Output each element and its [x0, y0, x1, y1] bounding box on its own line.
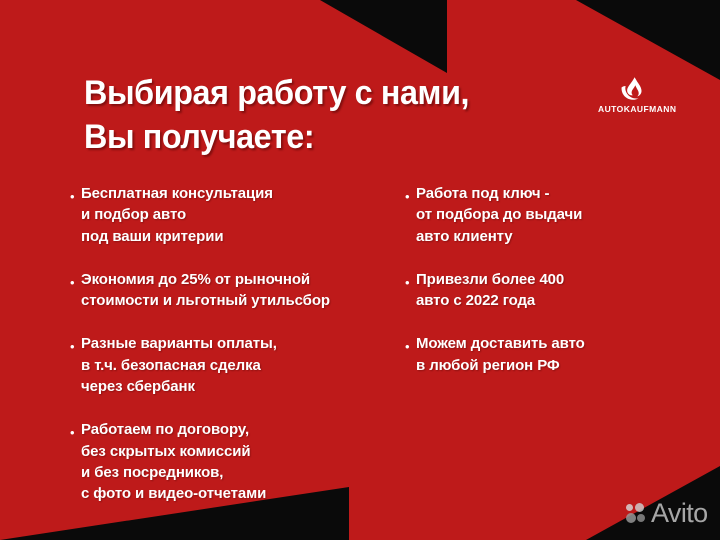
benefit-item: •Привезли более 400авто с 2022 года	[405, 269, 705, 312]
logo-wordmark: AUTOKAUFMANN	[598, 104, 668, 114]
benefits-column-left: •Бесплатная консультацияи подбор автопод…	[70, 183, 400, 527]
benefit-line: под ваши критерии	[81, 226, 400, 247]
page-title: Выбирая работу с нами, Вы получаете:	[84, 72, 531, 159]
benefit-item: •Разные варианты оплаты,в т.ч. безопасна…	[70, 333, 400, 397]
benefit-line: с фото и видео-отчетами	[81, 483, 400, 504]
benefit-line: в любой регион РФ	[416, 355, 705, 376]
promo-poster: Выбирая работу с нами, Вы получаете: AUT…	[0, 0, 720, 540]
heading-line-2: Вы получаете:	[84, 116, 531, 160]
avito-dot-4	[637, 514, 645, 522]
benefit-line: Экономия до 25% от рыночной	[81, 269, 400, 290]
brand-logo: AUTOKAUFMANN	[598, 76, 668, 114]
heading-line-1: Выбирая работу с нами,	[84, 72, 531, 116]
benefit-line: Работа под ключ -	[416, 183, 705, 204]
avito-dot-1	[626, 504, 633, 511]
benefit-text: Экономия до 25% от рыночнойстоимости и л…	[81, 269, 400, 312]
benefit-line: авто клиенту	[416, 226, 705, 247]
benefit-line: и без посредников,	[81, 462, 400, 483]
benefit-item: •Работа под ключ -от подбора до выдачиав…	[405, 183, 705, 247]
benefit-line: и подбор авто	[81, 204, 400, 225]
benefit-line: от подбора до выдачи	[416, 204, 705, 225]
benefit-text: Можем доставить автов любой регион РФ	[416, 333, 705, 376]
benefit-text: Бесплатная консультацияи подбор автопод …	[81, 183, 400, 247]
benefit-text: Разные варианты оплаты,в т.ч. безопасная…	[81, 333, 400, 397]
bullet-dot-icon: •	[70, 276, 81, 289]
bullet-dot-icon: •	[405, 190, 416, 203]
bullet-dot-icon: •	[405, 340, 416, 353]
benefit-line: Работаем по договору,	[81, 419, 400, 440]
benefit-line: Привезли более 400	[416, 269, 705, 290]
benefit-line: Можем доставить авто	[416, 333, 705, 354]
avito-watermark: Avito	[626, 500, 708, 527]
benefit-text: Работа под ключ -от подбора до выдачиавт…	[416, 183, 705, 247]
avito-dots-icon	[626, 503, 648, 525]
bullet-dot-icon: •	[405, 276, 416, 289]
benefit-line: авто с 2022 года	[416, 290, 705, 311]
avito-dot-2	[635, 503, 644, 512]
benefit-line: без скрытых комиссий	[81, 441, 400, 462]
flame-swoosh-icon	[620, 76, 646, 102]
avito-dot-3	[626, 513, 636, 523]
benefit-line: стоимости и льготный утильсбор	[81, 290, 400, 311]
benefit-item: •Работаем по договору,без скрытых комисс…	[70, 419, 400, 504]
benefit-line: через сбербанк	[81, 376, 400, 397]
benefit-item: •Экономия до 25% от рыночнойстоимости и …	[70, 269, 400, 312]
benefit-item: •Бесплатная консультацияи подбор автопод…	[70, 183, 400, 247]
benefits-column-right: •Работа под ключ -от подбора до выдачиав…	[405, 183, 705, 398]
avito-wordmark: Avito	[651, 500, 708, 527]
bullet-dot-icon: •	[70, 190, 81, 203]
benefit-text: Привезли более 400авто с 2022 года	[416, 269, 705, 312]
benefit-text: Работаем по договору,без скрытых комисси…	[81, 419, 400, 504]
bullet-dot-icon: •	[70, 340, 81, 353]
benefit-item: •Можем доставить автов любой регион РФ	[405, 333, 705, 376]
benefit-line: Разные варианты оплаты,	[81, 333, 400, 354]
benefit-line: в т.ч. безопасная сделка	[81, 355, 400, 376]
benefit-line: Бесплатная консультация	[81, 183, 400, 204]
bullet-dot-icon: •	[70, 426, 81, 439]
